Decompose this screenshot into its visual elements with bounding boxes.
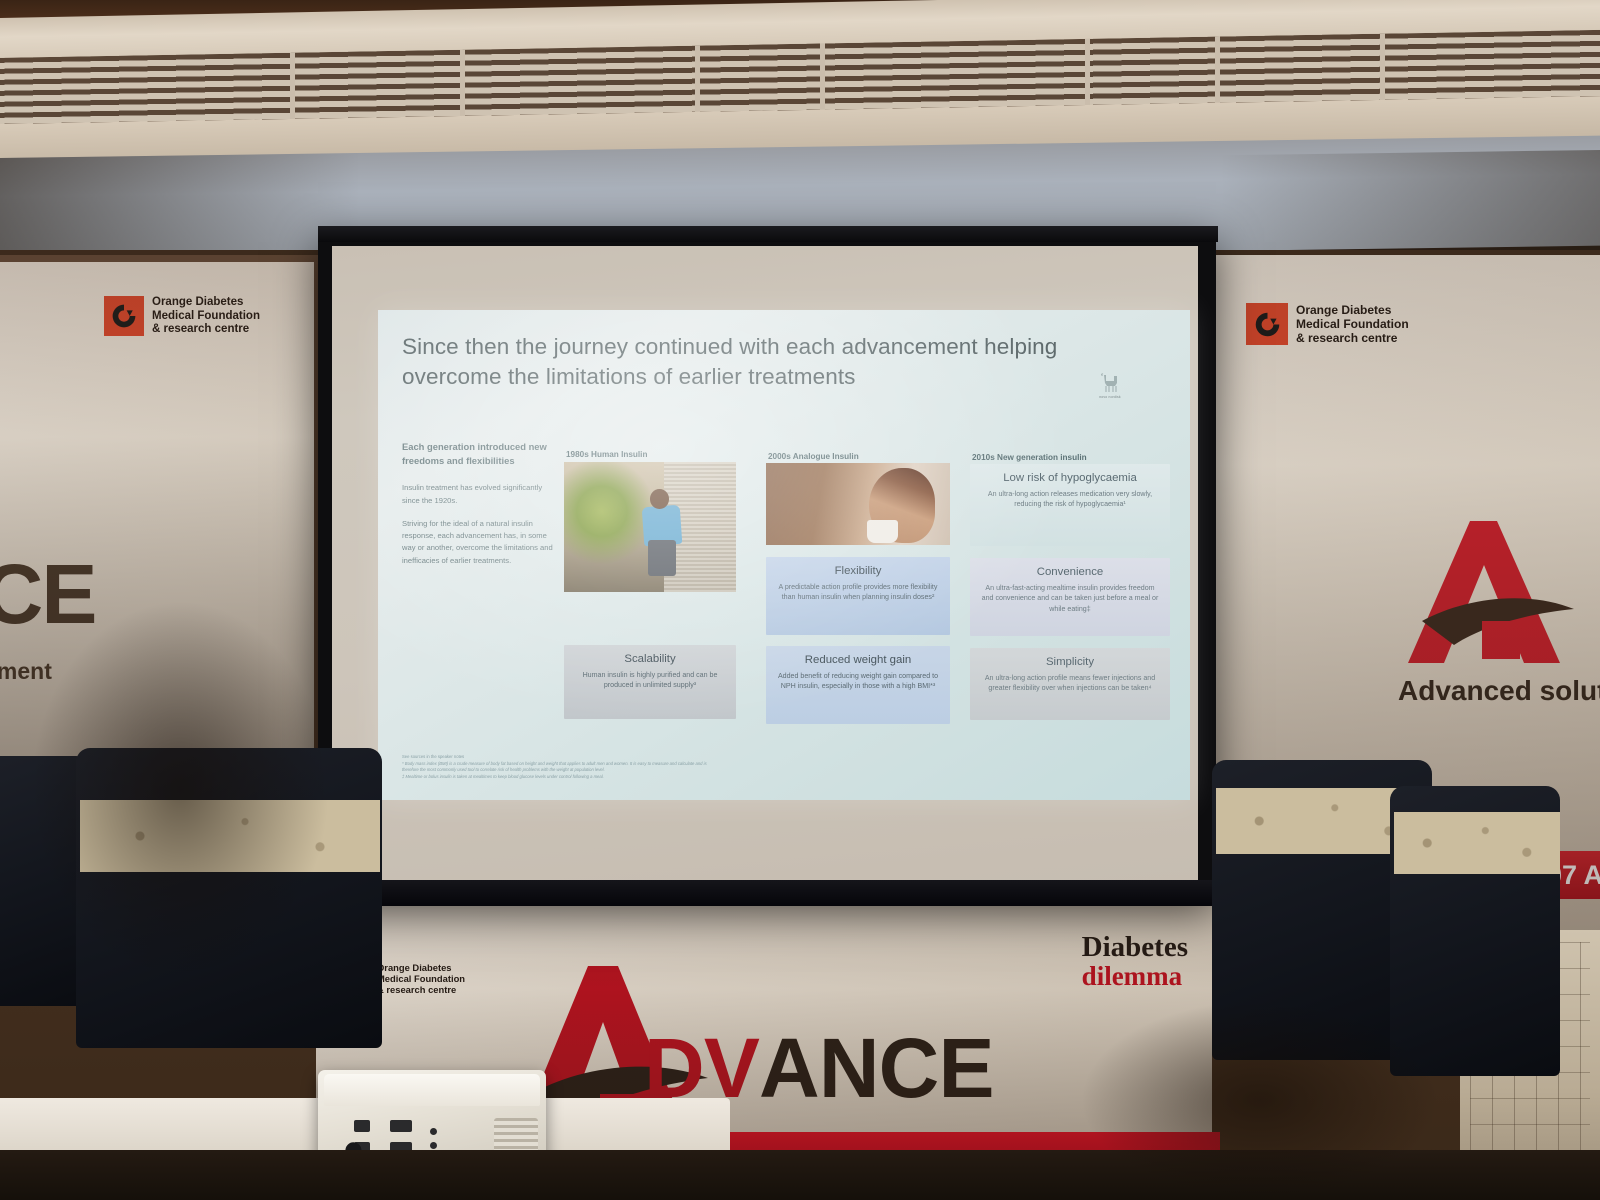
bull-icon [1097, 372, 1123, 394]
org-line-3: & research centre [152, 323, 260, 337]
org-line-2: Medical Foundation [1296, 317, 1409, 331]
projector-jack [430, 1142, 437, 1149]
card-body: An ultra-long action releases medication… [979, 489, 1161, 510]
card-body: A predictable action profile provides mo… [775, 582, 941, 603]
projector-jack [430, 1128, 437, 1135]
dd-line-1: Diabetes [1082, 934, 1188, 962]
orange-c-icon [110, 302, 138, 330]
odmf-mark-icon [1246, 303, 1288, 345]
advance-wordmark-left-fragment: NCE management [0, 552, 95, 685]
card-body: An ultra-long action profile means fewer… [979, 673, 1161, 694]
advance-logo-right [1392, 513, 1600, 683]
odmf-text-left: Orange Diabetes Medical Foundation & res… [152, 296, 260, 337]
diabetes-dilemma-logo: Diabetes dilemma [1082, 934, 1188, 989]
card-low-risk-hypoglycaemia: Low risk of hypoglycaemia An ultra-long … [970, 464, 1170, 546]
org-line-3: & research centre [377, 984, 465, 995]
photo-woman-drinking [766, 463, 950, 545]
card-flexibility: Flexibility A predictable action profile… [766, 557, 950, 635]
card-reduced-weight-gain: Reduced weight gain Added benefit of red… [766, 646, 950, 724]
card-title: Convenience [979, 565, 1161, 580]
column-header-2010s: 2010s New generation insulin [972, 453, 1087, 462]
conference-room-scene: Orange Diabetes Medical Foundation & res… [0, 0, 1600, 1200]
org-line-2: Medical Foundation [152, 310, 260, 324]
tagline-fragment-left: management [0, 658, 95, 685]
card-title: Low risk of hypoglycaemia [979, 471, 1161, 486]
org-line-3: & research centre [1296, 331, 1409, 345]
card-body: Human insulin is highly purified and can… [573, 670, 727, 691]
org-line-2: Medical Foundation [377, 973, 465, 984]
slide-title: Since then the journey continued with ea… [402, 332, 1142, 393]
card-scalability: Scalability Human insulin is highly puri… [564, 645, 736, 719]
left-column-heading: Each generation introduced new freedoms … [402, 440, 554, 468]
left-column-paragraph-1: Insulin treatment has evolved significan… [402, 482, 554, 507]
wordmark-letters-rest: ANCE [759, 1026, 994, 1110]
card-convenience: Convenience An ultra-fast-acting mealtim… [970, 558, 1170, 636]
footnote-3: ‡ Mealtime or bolus insulin is taken at … [402, 774, 1102, 781]
card-title: Simplicity [979, 655, 1161, 670]
slide-footnotes: See sources in the speaker notes * Body … [402, 754, 1102, 780]
dd-line-2: dilemma [1082, 964, 1188, 990]
odmf-text-right: Orange Diabetes Medical Foundation & res… [1296, 303, 1409, 345]
card-title: Flexibility [775, 564, 941, 579]
column-header-2000s: 2000s Analogue Insulin [768, 452, 859, 461]
screen-bottom-bar [318, 880, 1218, 906]
wordmark-fragment-left: NCE [0, 552, 95, 636]
card-title: Reduced weight gain [775, 653, 941, 668]
odmf-mark-icon [104, 296, 144, 336]
left-column-paragraph-2: Striving for the ideal of a natural insu… [402, 518, 554, 567]
screen-top-bar [318, 226, 1218, 242]
org-line-1: Orange Diabetes [377, 962, 465, 973]
projector-port [354, 1120, 370, 1132]
floor-foreground [0, 1150, 1600, 1200]
presentation-slide: Since then the journey continued with ea… [378, 310, 1190, 800]
org-line-1: Orange Diabetes [152, 296, 260, 310]
odmf-logo-left: Orange Diabetes Medical Foundation & res… [104, 296, 260, 337]
photo-boy-playing [564, 462, 736, 592]
org-line-1: Orange Diabetes [1296, 303, 1409, 317]
orange-c-icon [1253, 310, 1282, 339]
tagline-fragment-right: Advanced soluti [1398, 675, 1600, 707]
card-simplicity: Simplicity An ultra-long action profile … [970, 648, 1170, 720]
card-body: An ultra-fast-acting mealtime insulin pr… [979, 583, 1161, 615]
slide-left-column: Each generation introduced new freedoms … [402, 440, 554, 578]
projector-top-panel [324, 1074, 540, 1106]
odmf-text-bottom: Orange Diabetes Medical Foundation & res… [377, 962, 465, 995]
projector-port [390, 1120, 412, 1132]
novo-nordisk-logo: novo nordisk [1088, 372, 1132, 399]
novo-nordisk-caption: novo nordisk [1088, 395, 1132, 399]
card-body: Added benefit of reducing weight gain co… [775, 671, 941, 692]
advance-a-icon [1392, 513, 1600, 678]
column-header-1980s: 1980s Human Insulin [566, 450, 647, 459]
odmf-logo-right: Orange Diabetes Medical Foundation & res… [1246, 303, 1409, 345]
card-title: Scalability [573, 652, 727, 667]
